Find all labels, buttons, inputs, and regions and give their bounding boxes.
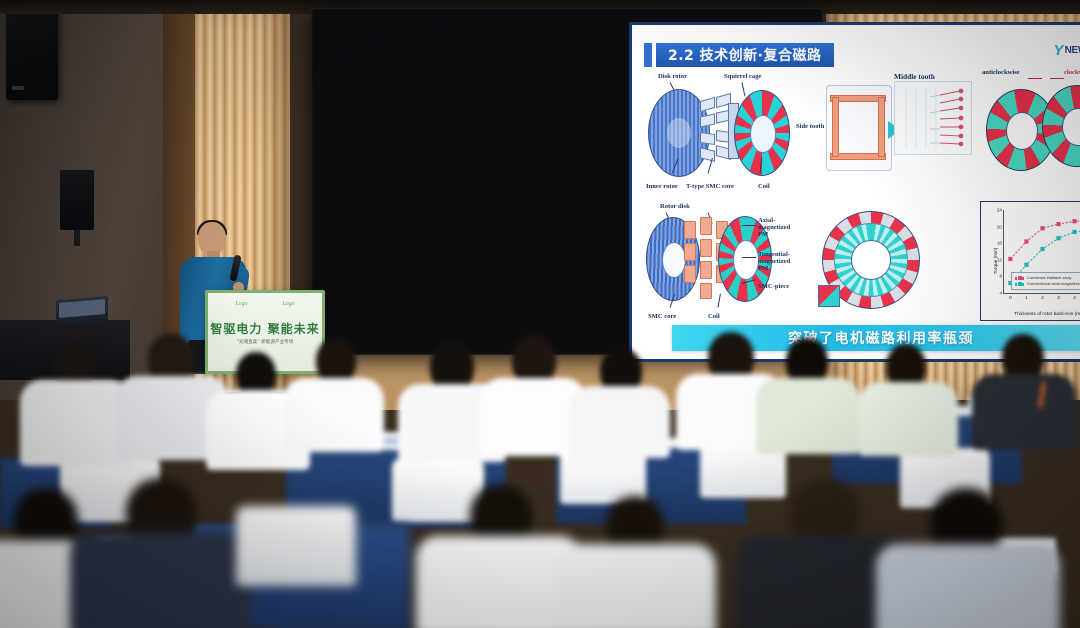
label-axial-magnetized-pm: Axial-magnetized PM <box>758 217 796 238</box>
detail-callout-square <box>818 285 840 307</box>
conference-room-photo: 2.2 技术创新·复合磁路 Y NEW Z Disk rotor Squirre… <box>0 0 1080 628</box>
chart-x-tick: 2 <box>1041 295 1044 300</box>
chart-y-tick: 8 <box>999 274 1002 279</box>
label-rotor-disk: Rotor disk <box>660 203 690 210</box>
ceiling-speaker-icon <box>6 8 58 100</box>
label-clockwise: clockwise <box>1064 69 1080 76</box>
podium-logos: Logo Logo <box>218 301 312 307</box>
leader-line <box>742 257 756 258</box>
figure-cross-section <box>814 201 926 319</box>
chart-legend-swatch <box>1015 283 1025 286</box>
label-disk-rotor: Disk rotor <box>658 73 687 80</box>
squirrel-cage-shape <box>734 90 790 176</box>
label-smc-piece: SMC-piece <box>758 283 789 290</box>
av-monitor <box>60 170 94 230</box>
podium-logo-right: Logo <box>282 301 294 307</box>
torque-vs-thickness-chart: Torque (Nm) 48121620240123456 Thickness … <box>980 201 1080 321</box>
label-side-tooth: Side tooth <box>796 123 824 130</box>
flux-arrow <box>832 97 839 157</box>
label-tangential-magnetized-pm: Tangential-magnetized PM <box>758 251 798 272</box>
chart-x-axis-label: Thickness of rotor back-iron (mm) <box>981 312 1080 317</box>
chart-y-tick: 20 <box>997 224 1002 229</box>
label-coil: Coil <box>758 183 770 190</box>
chart-x-tick: 1 <box>1025 295 1028 300</box>
label-squirrel-cage: Squirrel cage <box>724 73 761 80</box>
label-coil: Coil <box>708 313 720 320</box>
chart-legend-item: Conventional axial-magnetized magnets <box>1015 281 1080 287</box>
chart-legend: Combined-Halbach arrayConventional axial… <box>1011 272 1080 290</box>
audience-chair-foreground <box>236 506 356 586</box>
chart-y-tick: 12 <box>997 257 1002 262</box>
chart-y-tick: 16 <box>997 241 1002 246</box>
leader-line <box>1050 78 1064 79</box>
slide-title: 2.2 技术创新·复合磁路 <box>668 45 822 65</box>
chart-x-tick: 4 <box>1073 295 1076 300</box>
label-t-type-smc-core: T-type SMC core <box>686 183 734 190</box>
monitor-stand <box>74 230 80 246</box>
leader-line <box>1028 78 1042 79</box>
foreground-audience <box>0 478 1080 628</box>
title-accent-bar <box>644 43 652 67</box>
figure-disk-rotor-assembly: Disk rotor Squirrel cage <box>646 73 796 193</box>
projection-screen-bezel: 2.2 技术创新·复合磁路 Y NEW Z Disk rotor Squirre… <box>311 8 823 355</box>
slide-title-bar: 2.2 技术创新·复合磁路 <box>656 43 834 67</box>
laptop <box>56 296 108 327</box>
podium-logo-left: Logo <box>235 301 247 307</box>
inner-stator-ring <box>834 223 908 297</box>
wordmark-mark: Y <box>1054 43 1064 58</box>
slide-logos: Y NEW Z <box>1054 39 1080 61</box>
wordmark-text: NEW <box>1065 45 1080 56</box>
label-anticlockwise: anticlockwise <box>982 69 1020 76</box>
figure-halbach-rings: anticlockwise clockwise <box>984 69 1080 179</box>
new-wordmark-logo: Y NEW <box>1054 43 1080 58</box>
projection-screen: 2.2 技术创新·复合磁路 Y NEW Z Disk rotor Squirre… <box>629 22 1080 362</box>
chart-x-tick: 0 <box>1009 295 1012 300</box>
chart-x-tick: 3 <box>1057 295 1060 300</box>
figure-axial-flux-machine: Rotor disk <box>646 203 796 323</box>
chart-legend-swatch <box>1015 277 1025 280</box>
chart-legend-label: Conventional axial-magnetized magnets <box>1027 281 1080 287</box>
leader-line <box>742 225 756 226</box>
vector-field-arrows <box>890 77 976 165</box>
flux-arrow <box>878 97 885 157</box>
label-smc-core: SMC core <box>648 313 676 320</box>
figure-flux-vector-field <box>890 77 976 165</box>
label-inner-rotor: Inner rotor <box>646 183 678 190</box>
chart-y-tick: 4 <box>999 291 1002 296</box>
chart-y-tick: 24 <box>997 208 1002 213</box>
presentation-slide: 2.2 技术创新·复合磁路 Y NEW Z Disk rotor Squirre… <box>632 25 1080 359</box>
